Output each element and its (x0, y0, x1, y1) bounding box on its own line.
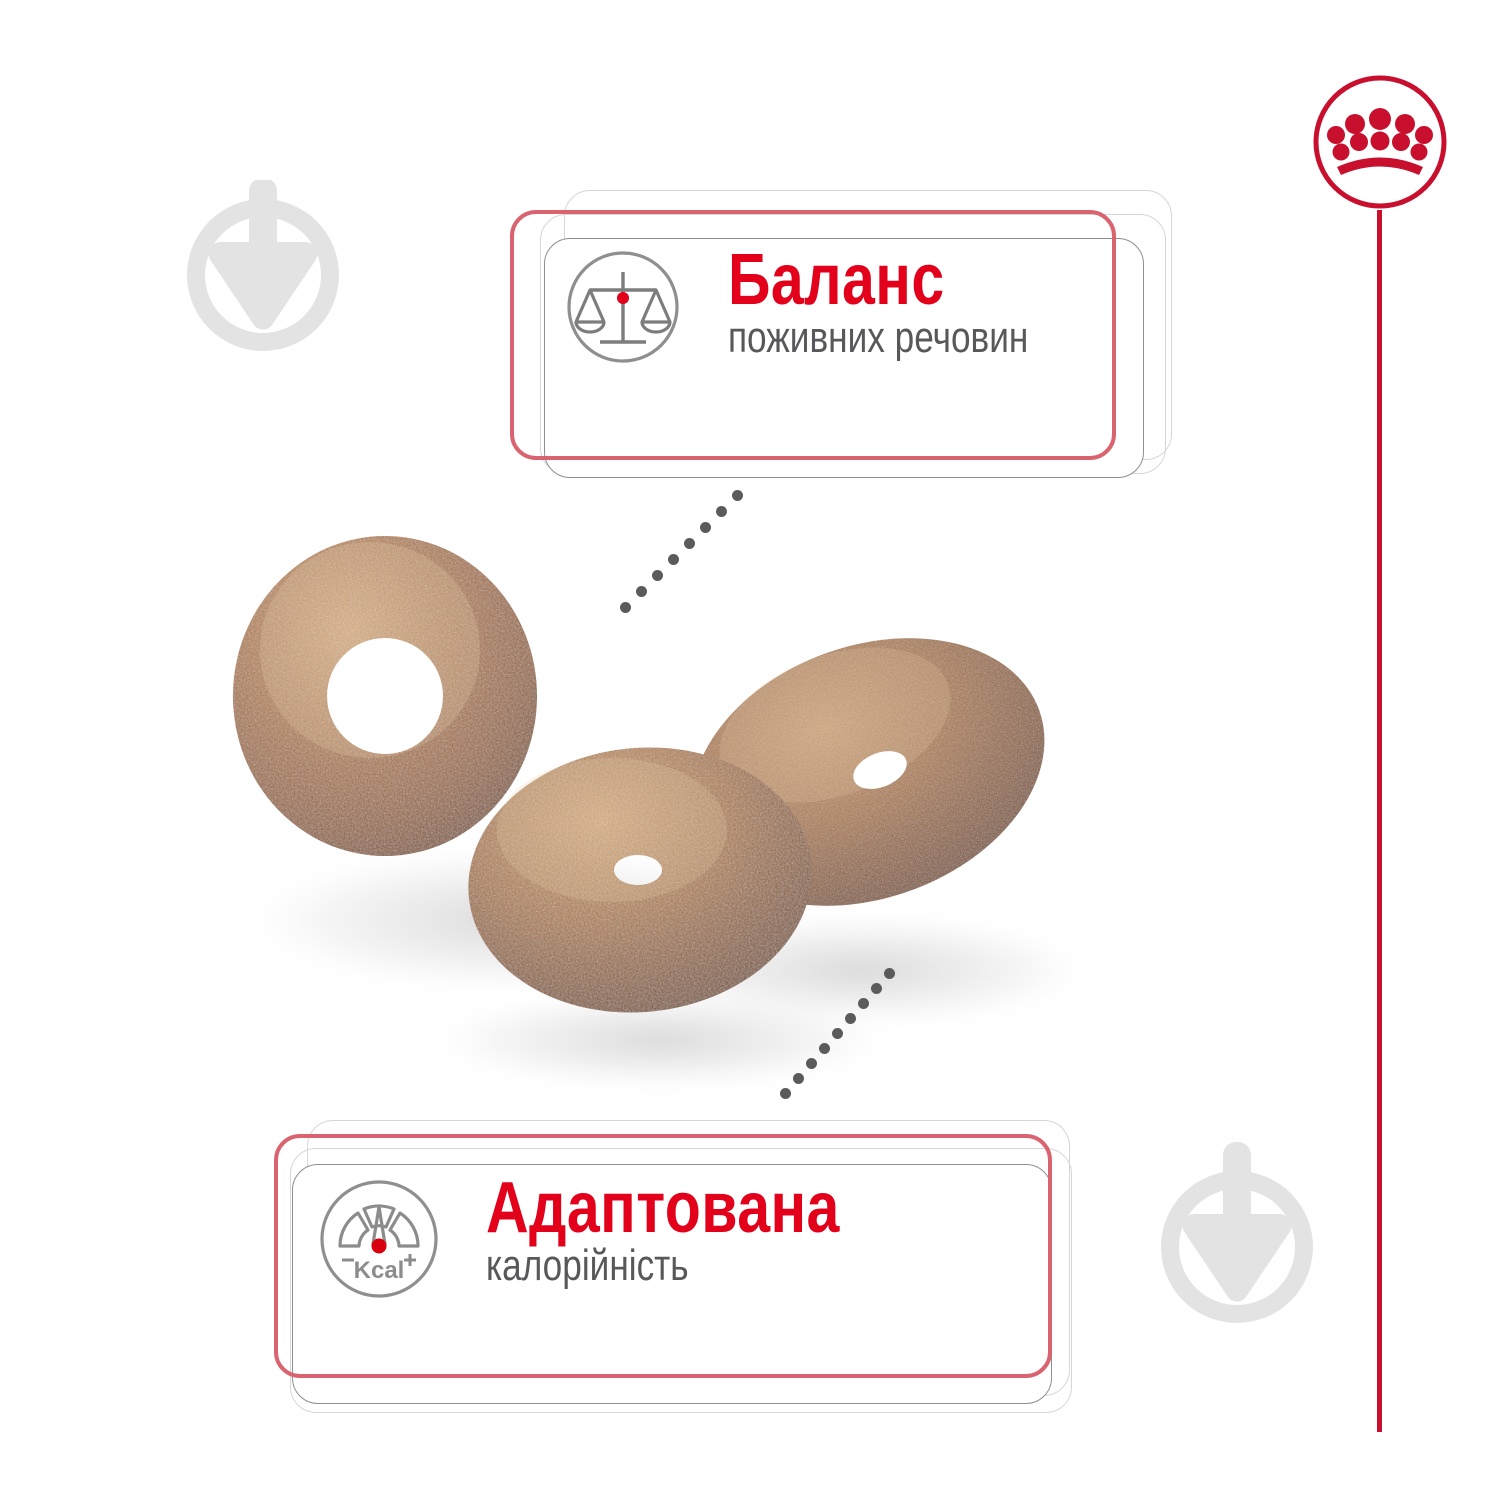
connector-dot (636, 586, 647, 597)
connector-dot (620, 602, 631, 613)
connector-dot (716, 506, 727, 517)
connector-dot (780, 1088, 791, 1099)
svg-text:Kcal: Kcal (354, 1257, 405, 1284)
connector-dot (700, 522, 711, 533)
connector-dot (806, 1058, 817, 1069)
card-subtitle-calorie: калорійність (486, 1243, 831, 1289)
card-content: Kcal Адаптована калорійність (314, 1174, 1034, 1374)
card-title-calorie: Адаптована (486, 1174, 840, 1243)
connector-dot (858, 998, 869, 1009)
connector-dot (668, 554, 679, 565)
card-text-block: Баланс поживних речовин (728, 246, 1103, 361)
connector-dot (652, 570, 663, 581)
connector-balance-dots (620, 490, 750, 620)
card-title-balance: Баланс (728, 246, 1036, 315)
connector-dot (871, 983, 882, 994)
poster-canvas: Баланс поживних речовин (0, 0, 1500, 1500)
connector-dot (832, 1028, 843, 1039)
connector-dot (845, 1013, 856, 1024)
balance-scale-icon (562, 246, 684, 373)
connector-calorie-dots (780, 965, 900, 1100)
benefit-card-calorie[interactable]: Kcal Адаптована калорійність (270, 1120, 1130, 1440)
connector-dot (684, 538, 695, 549)
connector-dot (732, 490, 743, 501)
benefit-card-balance[interactable]: Баланс поживних речовин (500, 190, 1180, 490)
brand-stem-line (1377, 210, 1382, 1432)
card-subtitle-balance: поживних речовин (728, 315, 1028, 361)
card-text-block: Адаптована калорійність (486, 1174, 917, 1289)
connector-dot (793, 1073, 804, 1084)
royal-canin-crown-icon (1310, 72, 1450, 212)
card-content: Баланс поживних речовин (562, 246, 1122, 436)
connector-dot (884, 968, 895, 979)
connector-dot (819, 1043, 830, 1054)
kcal-gauge-icon: Kcal (314, 1174, 444, 1309)
